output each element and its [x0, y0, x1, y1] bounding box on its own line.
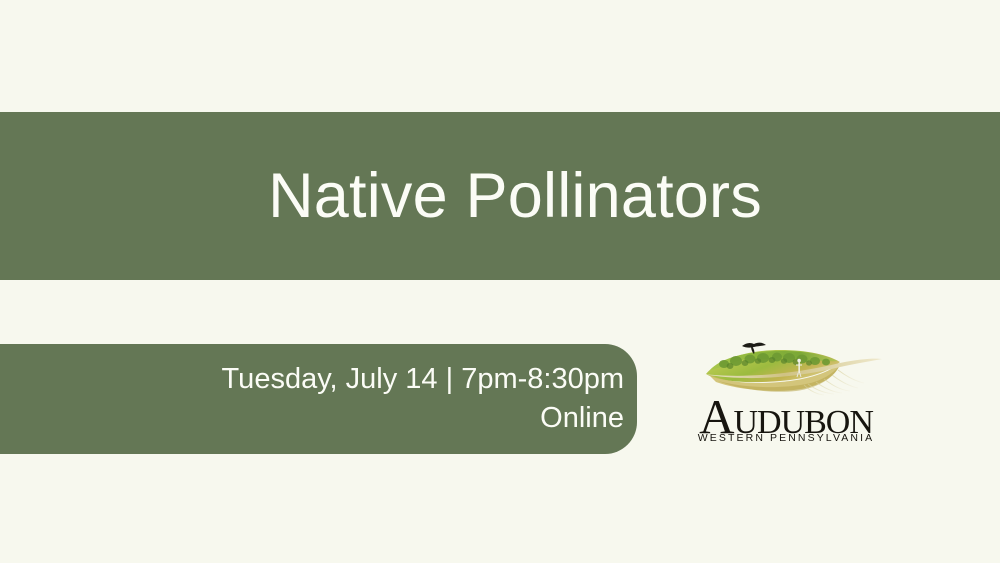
event-details-band: Tuesday, July 14 | 7pm-8:30pm Online [0, 344, 637, 454]
audubon-feather-landscape-icon [688, 340, 884, 396]
title-band: Native Pollinators [0, 112, 1000, 280]
event-poster: Native Pollinators Tuesday, July 14 | 7p… [0, 0, 1000, 563]
audubon-region: WESTERN PENNSYLVANIA [678, 432, 894, 444]
page-title: Native Pollinators [238, 165, 762, 228]
event-location: Online [540, 399, 624, 438]
audubon-wordmark: Audubon WESTERN PENNSYLVANIA [678, 392, 894, 452]
audubon-logo: Audubon WESTERN PENNSYLVANIA [678, 340, 894, 452]
event-datetime: Tuesday, July 14 | 7pm-8:30pm [222, 360, 624, 399]
